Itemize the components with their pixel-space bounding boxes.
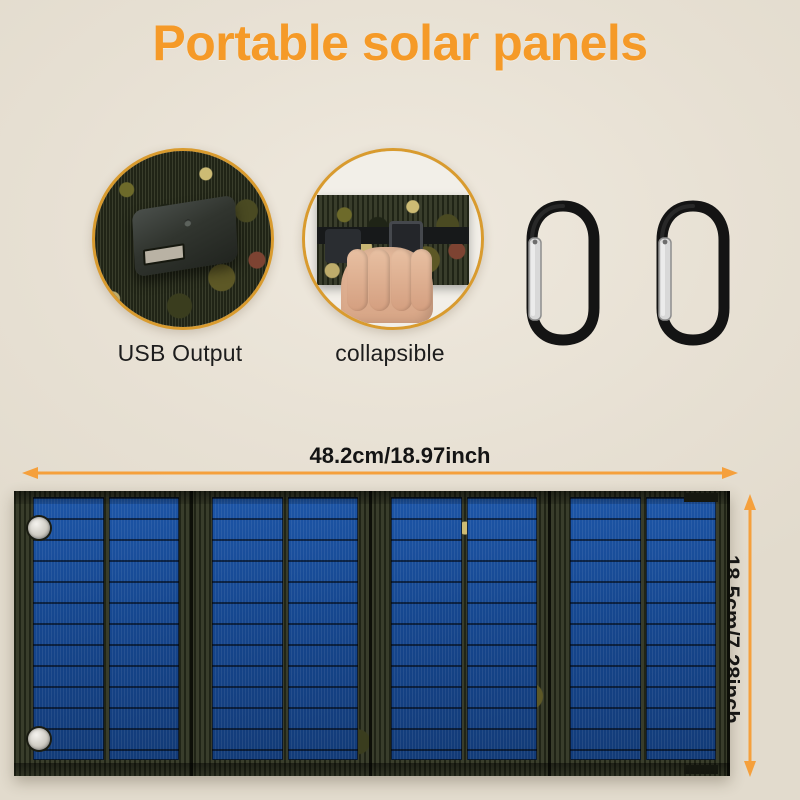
usb-port-icon — [143, 243, 185, 266]
feature-image-usb-output — [92, 148, 274, 330]
panel-tab — [684, 765, 718, 774]
height-dimension-arrow — [742, 494, 758, 777]
solar-cell-column — [109, 497, 180, 760]
finger-icon — [391, 249, 412, 311]
feature-collapsible: collapsible — [302, 148, 484, 367]
feature-usb-output: USB Output — [92, 148, 274, 367]
solar-cell-column — [212, 497, 283, 760]
solar-cell-column — [467, 497, 538, 760]
solar-cell-group — [570, 497, 716, 760]
finger-icon — [411, 249, 432, 311]
solar-cell-column — [570, 497, 641, 760]
carabiner-icon-left — [520, 196, 606, 351]
solar-cell-group — [33, 497, 179, 760]
grommet-icon — [28, 517, 50, 539]
page-title: Portable solar panels — [0, 14, 800, 72]
width-dimension-arrow — [22, 465, 738, 481]
solar-cell-column — [646, 497, 717, 760]
hand-icon — [341, 247, 433, 323]
solar-cell-column — [391, 497, 462, 760]
panel-segment — [551, 491, 730, 776]
carabiner-icon-right — [650, 196, 736, 351]
panel-segment — [193, 491, 372, 776]
feature-label-usb-output: USB Output — [92, 340, 268, 367]
solar-cell-group — [391, 497, 537, 760]
feature-label-collapsible: collapsible — [302, 340, 478, 367]
solar-cell-column — [288, 497, 359, 760]
finger-icon — [369, 249, 390, 311]
solar-panel-photo — [14, 491, 730, 776]
panel-tab — [684, 493, 718, 502]
feature-image-collapsible — [302, 148, 484, 330]
grommet-icon — [28, 728, 50, 750]
led-indicator-icon — [184, 219, 191, 227]
finger-icon — [347, 249, 368, 311]
solar-cell-group — [212, 497, 358, 760]
infographic-canvas: Portable solar panels USB Output — [0, 0, 800, 800]
panel-segment — [372, 491, 551, 776]
